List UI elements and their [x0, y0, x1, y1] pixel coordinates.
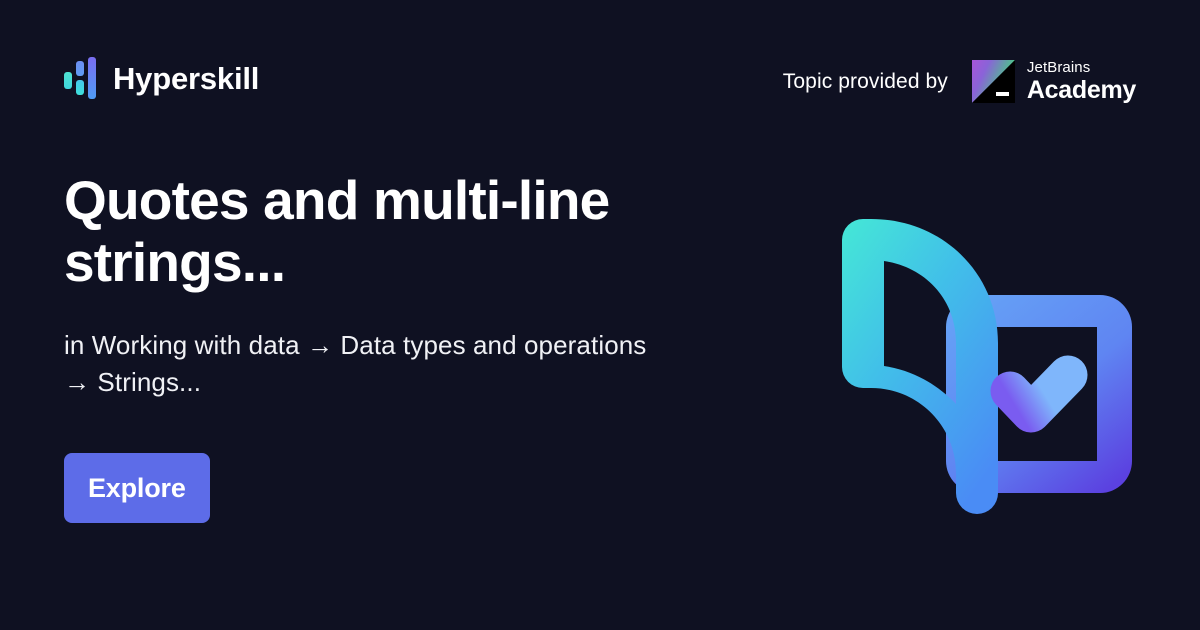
explore-button[interactable]: Explore: [64, 453, 210, 523]
jetbrains-academy-wordmark: JetBrains Academy: [1027, 60, 1136, 103]
jetbrains-logo-triangle: [972, 60, 1015, 103]
social-card: Hyperskill Topic provided by JetBrains A…: [0, 0, 1200, 630]
hyperskill-wordmark: Hyperskill: [113, 63, 259, 94]
main-content: Quotes and multi-line strings... in Work…: [64, 170, 704, 523]
page-title: Quotes and multi-line strings...: [64, 170, 684, 293]
open-book-with-checkmark-icon: [840, 195, 1140, 535]
hyperskill-brand[interactable]: Hyperskill: [64, 56, 259, 100]
illustration-checkmark: [1010, 375, 1068, 413]
jetbrains-wordmark-bottom: Academy: [1027, 78, 1136, 103]
hyperskill-logo-bar-middle-bottom: [76, 80, 84, 95]
sponsor-block: Topic provided by JetBrains Academy: [783, 56, 1136, 103]
illustration-book: [842, 219, 998, 514]
jetbrains-wordmark-top: JetBrains: [1027, 60, 1136, 75]
sponsor-label: Topic provided by: [783, 70, 948, 94]
hyperskill-logo-bar-right: [88, 57, 96, 99]
jetbrains-academy-lockup[interactable]: JetBrains Academy: [972, 60, 1136, 103]
breadcrumb-subtitle: in Working with data → Data types and op…: [64, 327, 654, 401]
jetbrains-logo-dash: [996, 92, 1009, 96]
hyperskill-logo-bar-middle-top: [76, 61, 84, 76]
jetbrains-logo-icon: [972, 60, 1015, 103]
hyperskill-logo-bar-left: [64, 72, 72, 89]
hyperskill-logo-icon: [64, 56, 96, 100]
header: Hyperskill Topic provided by JetBrains A…: [0, 0, 1200, 160]
